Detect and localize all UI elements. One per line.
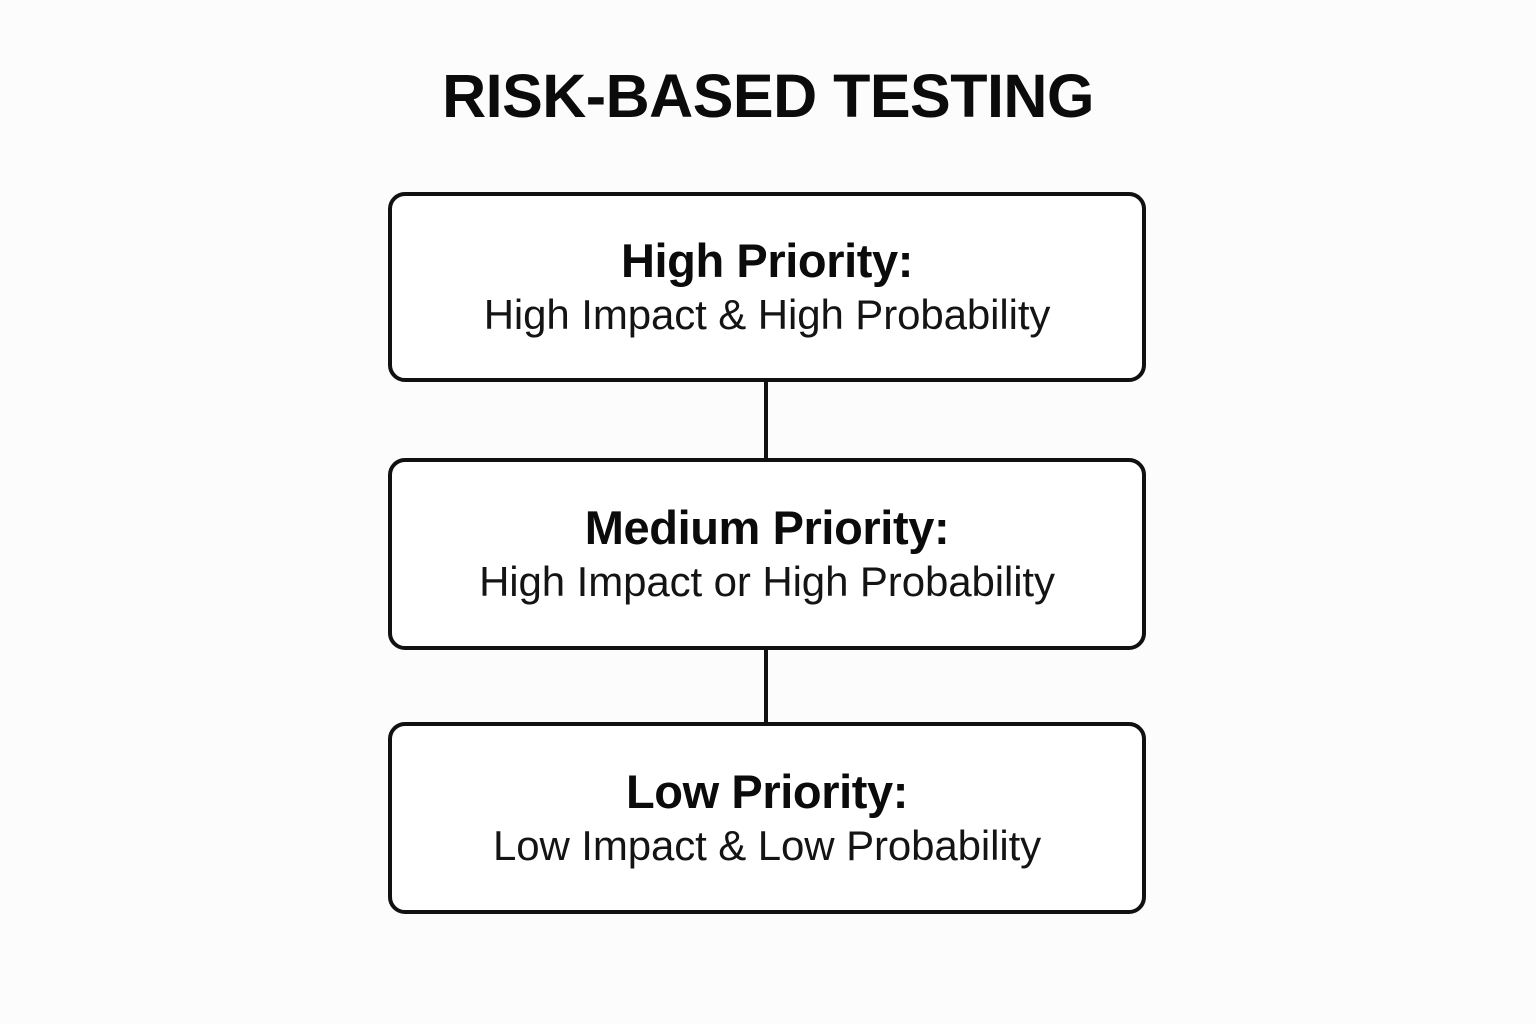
connector-high-to-medium	[764, 380, 768, 460]
diagram-canvas: RISK-BASED TESTING High Priority: High I…	[0, 0, 1536, 1024]
node-medium-priority-detail: High Impact or High Probability	[479, 558, 1055, 606]
node-high-priority[interactable]: High Priority: High Impact & High Probab…	[388, 192, 1146, 382]
node-medium-priority-heading: Medium Priority:	[585, 502, 949, 555]
connector-medium-to-low	[764, 648, 768, 724]
node-low-priority[interactable]: Low Priority: Low Impact & Low Probabili…	[388, 722, 1146, 914]
page-title: RISK-BASED TESTING	[0, 64, 1536, 128]
node-high-priority-heading: High Priority:	[621, 235, 913, 288]
node-low-priority-detail: Low Impact & Low Probability	[493, 822, 1041, 870]
node-medium-priority[interactable]: Medium Priority: High Impact or High Pro…	[388, 458, 1146, 650]
node-high-priority-detail: High Impact & High Probability	[484, 291, 1051, 339]
node-low-priority-heading: Low Priority:	[626, 766, 908, 819]
